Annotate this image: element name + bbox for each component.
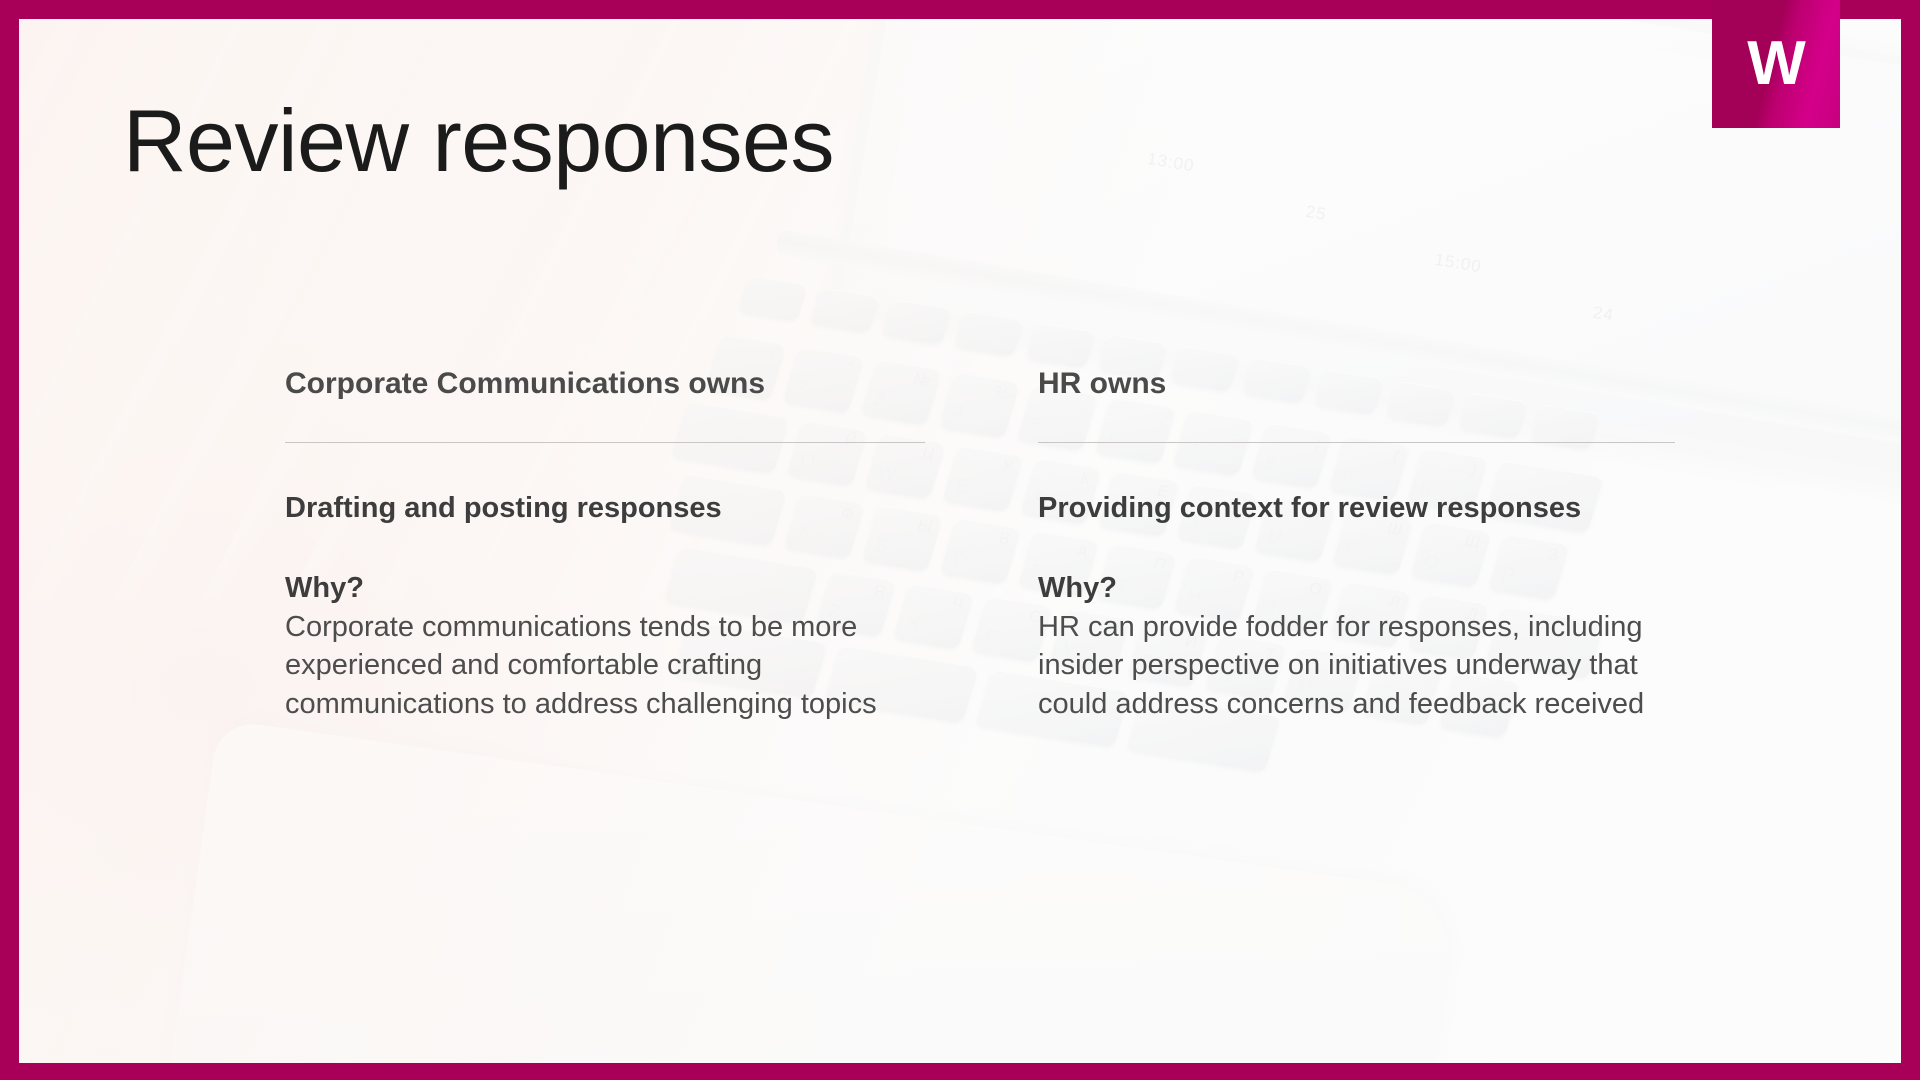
slide-frame: 13:00 25 15:00 24 1! 2" xyxy=(0,0,1920,1080)
brand-logo: W xyxy=(1712,0,1840,128)
two-column-layout: Corporate Communications owns Drafting a… xyxy=(285,367,1685,723)
column-heading: Corporate Communications owns xyxy=(285,367,925,400)
slide-content: Review responses Corporate Communication… xyxy=(19,19,1901,1063)
column-heading: HR owns xyxy=(1038,367,1678,400)
column-divider xyxy=(1038,442,1675,443)
why-label: Why? xyxy=(1038,570,1678,606)
why-body: HR can provide fodder for responses, inc… xyxy=(1038,608,1678,723)
page-title: Review responses xyxy=(123,97,834,185)
why-body: Corporate communications tends to be mor… xyxy=(285,608,925,723)
column-subheading: Providing context for review responses xyxy=(1038,491,1678,526)
column-divider xyxy=(285,442,925,443)
w-logo-icon: W xyxy=(1747,33,1805,95)
slide-canvas: 13:00 25 15:00 24 1! 2" xyxy=(19,19,1901,1063)
why-label: Why? xyxy=(285,570,925,606)
column-subheading: Drafting and posting responses xyxy=(285,491,925,526)
column-hr: HR owns Providing context for review res… xyxy=(1038,367,1678,723)
column-corporate-communications: Corporate Communications owns Drafting a… xyxy=(285,367,925,723)
